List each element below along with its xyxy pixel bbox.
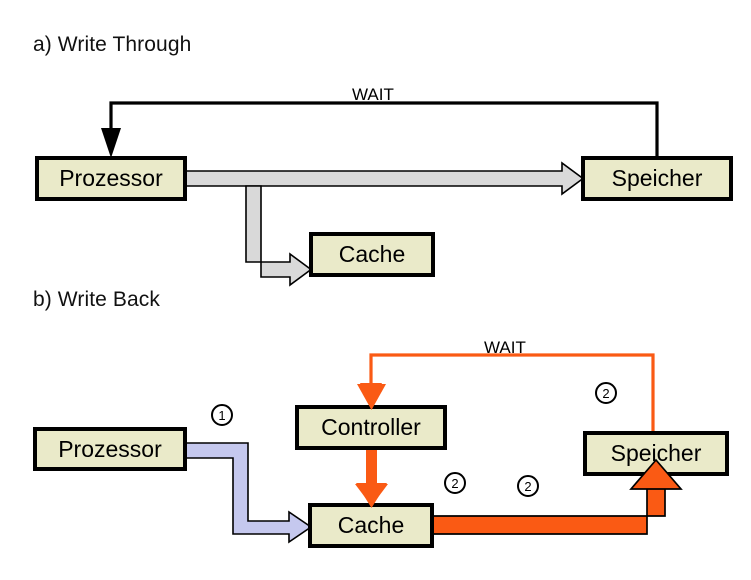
label-wait-write-back: WAIT: [484, 338, 526, 358]
edge-processor-to-cache-blue: [185, 443, 311, 542]
node-processor-write-through: Prozessor: [35, 156, 187, 201]
edge-controller-to-cache: [355, 448, 388, 506]
step-badge-1: 1: [211, 404, 233, 426]
node-memory-write-back: Speicher: [583, 431, 729, 476]
step-badge-2-memory: 2: [595, 382, 617, 404]
label-wait-write-through: WAIT: [352, 85, 394, 105]
node-cache-write-through: Cache: [309, 232, 435, 277]
edge-memory-to-processor-wait: [103, 103, 658, 156]
node-controller-write-back: Controller: [295, 405, 447, 450]
edge-processor-to-memory: [185, 163, 583, 194]
step-badge-2-cache: 2: [517, 475, 539, 497]
node-cache-write-back: Cache: [308, 503, 434, 548]
diagram-canvas: a) Write Through b) Write Back: [0, 0, 751, 580]
node-memory-write-through: Speicher: [581, 156, 733, 201]
node-processor-write-back: Prozessor: [33, 427, 187, 471]
edge-processor-to-cache: [246, 186, 311, 285]
step-badge-2-controller: 2: [444, 472, 466, 494]
